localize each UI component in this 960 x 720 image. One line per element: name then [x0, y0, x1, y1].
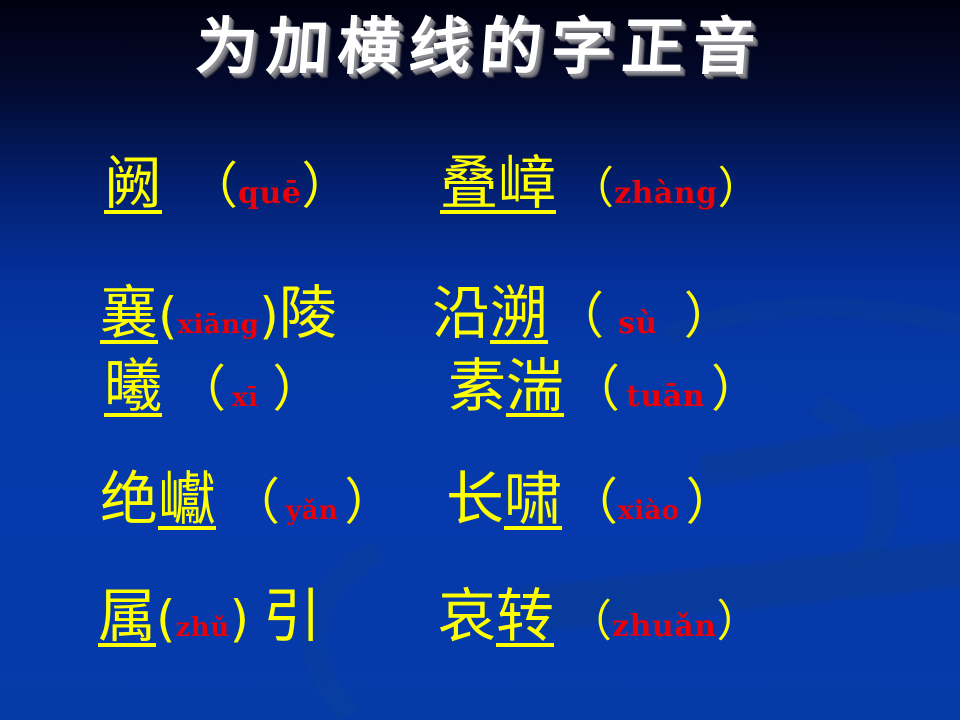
paren-close: ）: [718, 167, 762, 211]
target-hanzi: 襄: [100, 284, 158, 342]
word-entry-left: 属 ( zhǔ ) 引: [98, 587, 321, 645]
paren-open: （: [568, 600, 612, 644]
paren-close: ）: [344, 477, 394, 527]
word-entry-right: 叠嶂 （ zhàng ）: [440, 154, 762, 212]
pinyin: zhuǎn: [612, 612, 716, 642]
target-hanzi: 转: [496, 587, 554, 645]
context-hanzi: 陵: [279, 284, 337, 342]
paren-open: （: [568, 477, 618, 527]
context-hanzi: 长: [446, 470, 504, 528]
context-hanzi: 引: [263, 587, 321, 645]
paren-close: ）: [684, 291, 734, 341]
context-hanzi: 素: [448, 357, 506, 415]
word-list: 阙 （ quē ） 叠嶂 （ zhàng ） 襄 ( xiāng ) 陵: [0, 132, 960, 712]
word-entry-right: 沿 溯 （ sù ）: [432, 284, 734, 342]
word-entry-right: 长 啸 （ xiào ）: [446, 470, 736, 528]
word-entry-right: 哀 转 （ zhuǎn ）: [438, 587, 760, 645]
word-entry-left: 曦 （ xī ）: [104, 357, 322, 415]
word-entry-right: 素 湍 （ tuān ）: [448, 357, 761, 415]
pinyin: zhǔ: [176, 615, 230, 641]
paren-open: （: [230, 477, 280, 527]
context-hanzi: 绝: [100, 470, 158, 528]
paren-close: ）: [301, 161, 351, 211]
paren-open: （: [554, 291, 604, 341]
pinyin: tuān: [626, 382, 705, 412]
target-hanzi: 阙: [104, 154, 162, 212]
word-entry-left: 绝 巘 （ yǎn ）: [100, 470, 394, 528]
paren-close: ）: [686, 477, 736, 527]
target-hanzi: 溯: [490, 284, 548, 342]
context-hanzi: 沿: [432, 284, 490, 342]
paren-open: （: [570, 364, 620, 414]
paren-close: ）: [716, 600, 760, 644]
paren-open: （: [188, 161, 238, 211]
pinyin: yǎn: [286, 498, 338, 524]
paren-open: (: [158, 291, 178, 341]
word-entry-left: 阙 （ quē ）: [104, 154, 351, 212]
paren-close: ): [259, 291, 279, 341]
pinyin: xiào: [618, 498, 680, 524]
target-hanzi: 属: [98, 587, 156, 645]
paren-close: ）: [272, 364, 322, 414]
paren-open: （: [176, 364, 226, 414]
slide-canvas: 为加横线的字正音 阙 （ quē ） 叠嶂 （ zhàng ） 襄: [0, 0, 960, 720]
paren-close: ）: [711, 364, 761, 414]
target-hanzi: 巘: [158, 470, 216, 528]
target-hanzi: 湍: [506, 357, 564, 415]
paren-close: ): [230, 594, 250, 644]
slide-title: 为加横线的字正音: [0, 14, 960, 79]
target-hanzi: 叠嶂: [440, 154, 556, 212]
context-hanzi: 哀: [438, 587, 496, 645]
target-hanzi: 啸: [504, 470, 562, 528]
pinyin: xiāng: [178, 312, 260, 338]
word-entry-left: 襄 ( xiāng ) 陵: [100, 284, 337, 342]
pinyin: quē: [238, 179, 301, 209]
pinyin: xī: [232, 385, 258, 411]
pinyin: sù: [618, 309, 658, 339]
paren-open: (: [156, 594, 176, 644]
target-hanzi: 曦: [104, 357, 162, 415]
pinyin: zhàng: [614, 179, 718, 209]
paren-open: （: [570, 167, 614, 211]
